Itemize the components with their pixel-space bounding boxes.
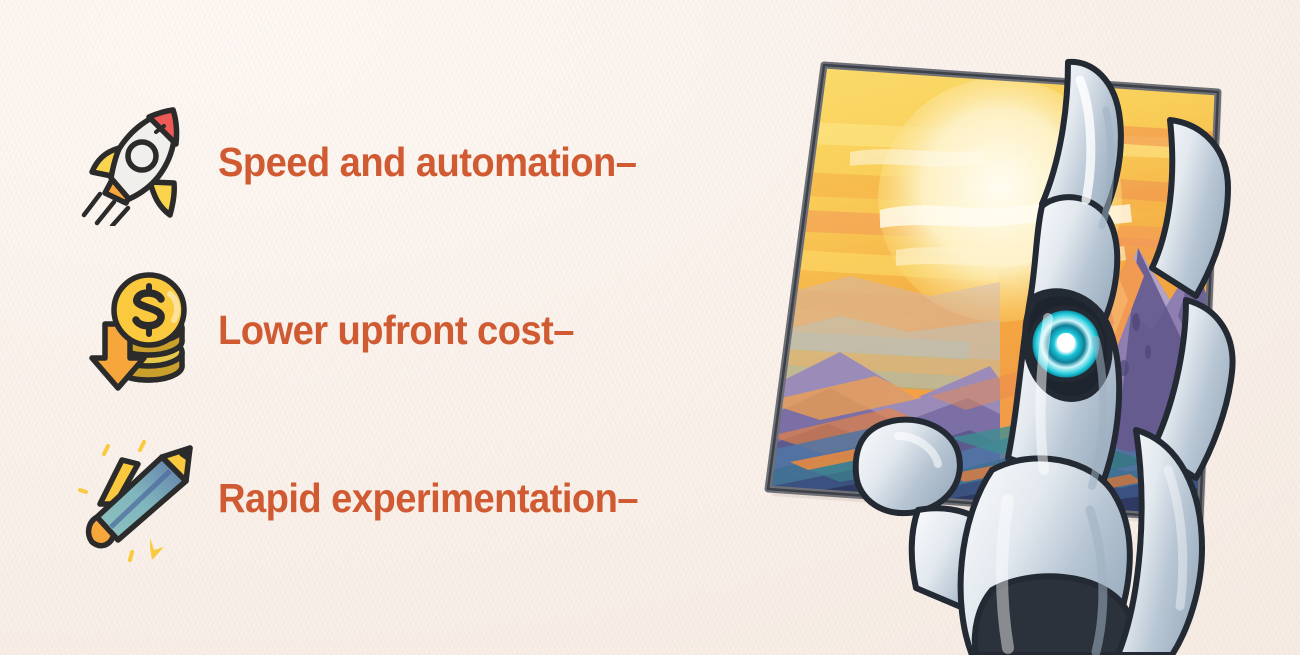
coin-down-arrow-icon	[78, 266, 200, 394]
rocket-icon	[78, 98, 200, 226]
list-item-label: Rapid experimentation–	[218, 478, 638, 519]
list-item[interactable]: Lower upfront cost–	[78, 266, 601, 394]
pencil-lightning-icon	[78, 434, 200, 562]
list-item[interactable]: Rapid experimentation–	[78, 434, 670, 562]
slide-canvas: Speed and automation–	[0, 0, 1300, 655]
list-item[interactable]: Speed and automation–	[78, 98, 668, 226]
list-item-label: Speed and automation–	[218, 142, 636, 183]
benefits-list: Speed and automation–	[0, 0, 760, 655]
robot-hand-holding-painting	[700, 0, 1300, 655]
list-item-label: Lower upfront cost–	[218, 310, 574, 351]
